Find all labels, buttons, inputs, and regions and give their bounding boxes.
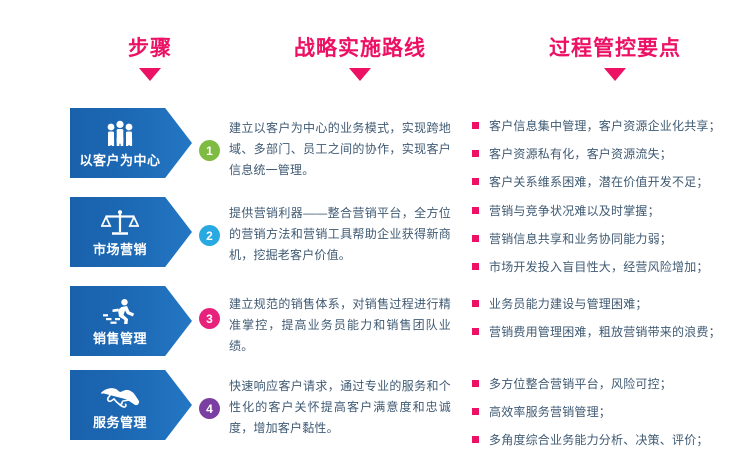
square-bullet-icon bbox=[472, 436, 479, 443]
stage-row: 市场营销 2 提供营销利器——整合营销平台，全方位的营销方法和营销工具帮助企业获… bbox=[0, 193, 750, 278]
stage-row: 服务管理 4 快速响应客户请求，通过专业的服务和个性化的客户关怀提高客户满意度和… bbox=[0, 366, 750, 454]
infographic-root: 步骤 战略实施路线 过程管控要点 bbox=[0, 0, 750, 468]
stage-row: 销售管理 3 建立规范的销售体系，对销售过程进行精准掌控，提高业务员能力和销售团… bbox=[0, 282, 750, 362]
column-header-strategy: 战略实施路线 bbox=[265, 36, 455, 81]
list-item-label: 客户信息集中管理，客户资源企业化共享； bbox=[489, 119, 721, 133]
square-bullet-icon bbox=[472, 300, 479, 307]
stage-chevron-1[interactable]: 以客户为中心 bbox=[70, 108, 192, 178]
control-points-list-4: 多方位整合营销平台，风险可控； 高效率服务营销管理； 多角度综合业务能力分析、决… bbox=[472, 376, 742, 460]
square-bullet-icon bbox=[472, 207, 479, 214]
column-header-steps: 步骤 bbox=[55, 36, 245, 81]
column-header-control-points-label: 过程管控要点 bbox=[520, 36, 710, 62]
control-points-list-2: 营销与竞争状况难以及时掌握； 营销信息共享和业务协同能力弱； 市场开发投入盲目性… bbox=[472, 203, 742, 287]
list-item-label: 营销与竞争状况难以及时掌握； bbox=[489, 204, 660, 218]
list-item: 客户信息集中管理，客户资源企业化共享； bbox=[472, 118, 742, 134]
column-header-strategy-label: 战略实施路线 bbox=[265, 36, 455, 62]
list-item-label: 客户关系维系困难，潜在价值开发不足； bbox=[489, 175, 709, 189]
strategy-text-1: 建立以客户为中心的业务模式，实现跨地域、多部门、员工之间的协作，实现客户信息统一… bbox=[229, 118, 451, 181]
step-number-badge-1: 1 bbox=[199, 140, 220, 161]
step-number-badge-3: 3 bbox=[199, 308, 220, 329]
column-headers: 步骤 战略实施路线 过程管控要点 bbox=[0, 0, 750, 96]
column-header-control-points: 过程管控要点 bbox=[520, 36, 710, 81]
list-item: 营销费用管理困难，粗放营销带来的浪费； bbox=[472, 324, 742, 340]
list-item: 营销信息共享和业务协同能力弱； bbox=[472, 231, 742, 247]
list-item: 营销与竞争状况难以及时掌握； bbox=[472, 203, 742, 219]
strategy-text-3: 建立规范的销售体系，对销售过程进行精准掌控，提高业务员能力和销售团队业绩。 bbox=[229, 294, 451, 357]
square-bullet-icon bbox=[472, 235, 479, 242]
square-bullet-icon bbox=[472, 122, 479, 129]
handshake-icon bbox=[99, 380, 141, 410]
list-item: 客户资源私有化，客户资源流失； bbox=[472, 146, 742, 162]
step-number-badge-2: 2 bbox=[199, 225, 220, 246]
stage-label-1: 以客户为中心 bbox=[79, 153, 160, 169]
running-person-icon bbox=[101, 296, 139, 326]
strategy-text-4: 快速响应客户请求，通过专业的服务和个性化的客户关怀提高客户满意度和忠诚度，增加客… bbox=[229, 376, 451, 439]
square-bullet-icon bbox=[472, 263, 479, 270]
strategy-text-2: 提供营销利器——整合营销平台，全方位的营销方法和营销工具帮助企业获得新商机，挖掘… bbox=[229, 203, 451, 266]
list-item: 市场开发投入盲目性大，经营风险增加； bbox=[472, 259, 742, 275]
caret-down-icon bbox=[139, 68, 161, 81]
list-item-label: 市场开发投入盲目性大，经营风险增加； bbox=[489, 260, 709, 274]
balance-scale-icon bbox=[101, 207, 139, 237]
list-item-label: 营销信息共享和业务协同能力弱； bbox=[489, 232, 672, 246]
stage-chevron-4[interactable]: 服务管理 bbox=[70, 370, 192, 440]
list-item: 客户关系维系困难，潜在价值开发不足； bbox=[472, 174, 742, 190]
list-item-label: 客户资源私有化，客户资源流失； bbox=[489, 147, 672, 161]
people-group-icon bbox=[100, 118, 140, 148]
list-item-label: 多方位整合营销平台，风险可控； bbox=[489, 377, 672, 391]
stage-chevron-3[interactable]: 销售管理 bbox=[70, 286, 192, 356]
list-item: 多角度综合业务能力分析、决策、评价； bbox=[472, 432, 742, 448]
square-bullet-icon bbox=[472, 380, 479, 387]
square-bullet-icon bbox=[472, 150, 479, 157]
stage-label-4: 服务管理 bbox=[93, 415, 147, 431]
stage-label-3: 销售管理 bbox=[93, 331, 147, 347]
list-item: 高效率服务营销管理； bbox=[472, 404, 742, 420]
control-points-list-3: 业务员能力建设与管理困难； 营销费用管理困难，粗放营销带来的浪费； bbox=[472, 296, 742, 352]
list-item-label: 高效率服务营销管理； bbox=[489, 405, 611, 419]
stage-row: 以客户为中心 1 建立以客户为中心的业务模式，实现跨地域、多部门、员工之间的协作… bbox=[0, 104, 750, 189]
square-bullet-icon bbox=[472, 408, 479, 415]
stage-chevron-2[interactable]: 市场营销 bbox=[70, 197, 192, 267]
control-points-list-1: 客户信息集中管理，客户资源企业化共享； 客户资源私有化，客户资源流失； 客户关系… bbox=[472, 118, 742, 202]
list-item: 业务员能力建设与管理困难； bbox=[472, 296, 742, 312]
list-item-label: 营销费用管理困难，粗放营销带来的浪费； bbox=[489, 325, 721, 339]
caret-down-icon bbox=[604, 68, 626, 81]
column-header-steps-label: 步骤 bbox=[55, 36, 245, 62]
list-item-label: 多角度综合业务能力分析、决策、评价； bbox=[489, 433, 709, 447]
step-number-badge-4: 4 bbox=[199, 398, 220, 419]
caret-down-icon bbox=[349, 68, 371, 81]
stage-label-2: 市场营销 bbox=[93, 242, 147, 258]
list-item: 多方位整合营销平台，风险可控； bbox=[472, 376, 742, 392]
square-bullet-icon bbox=[472, 328, 479, 335]
square-bullet-icon bbox=[472, 178, 479, 185]
list-item-label: 业务员能力建设与管理困难； bbox=[489, 297, 648, 311]
